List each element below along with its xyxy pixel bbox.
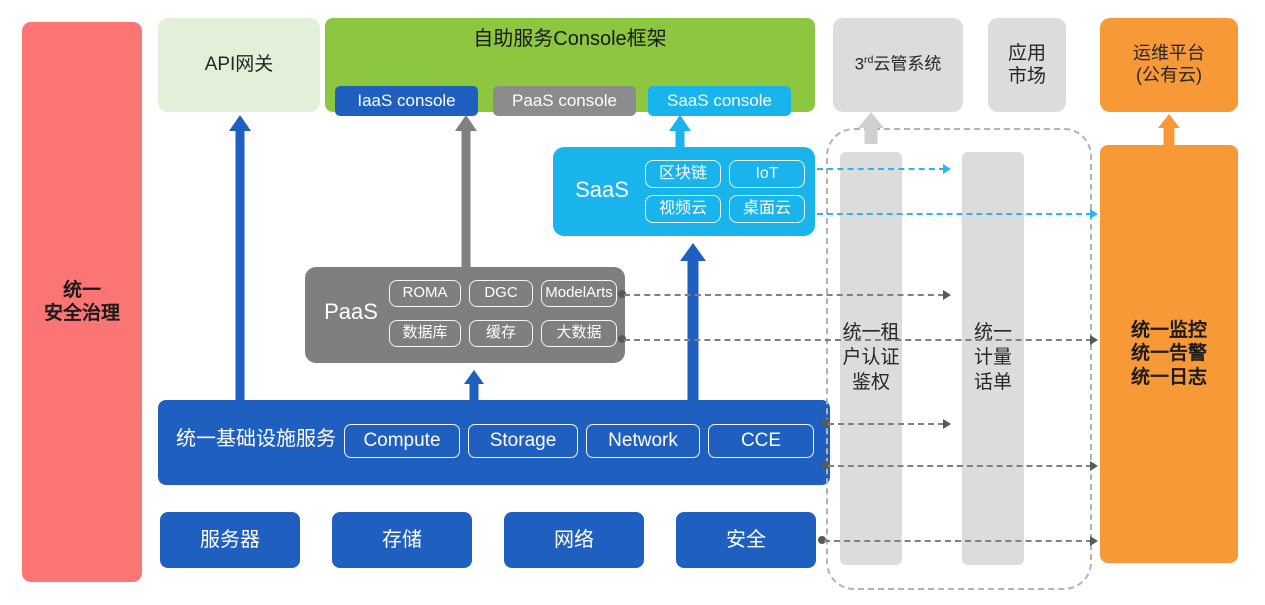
arrow-iaas-to-saas bbox=[679, 243, 707, 403]
saas-service-iot[interactable]: IoT bbox=[729, 160, 805, 188]
paas-console-button[interactable]: PaaS console bbox=[493, 86, 636, 116]
dashed-arrowhead-paas-tenant-auth bbox=[943, 290, 951, 300]
console-framework-block[interactable]: 自助服务Console框架 IaaS console PaaS console … bbox=[325, 18, 815, 112]
dashed-arrowhead-paas-ops bbox=[1090, 335, 1098, 345]
app-market-block[interactable]: 应用 市场 bbox=[988, 18, 1066, 112]
dashed-arrowhead-saas-tenant-auth bbox=[943, 164, 951, 174]
dashed-saas-to-tenant-auth bbox=[817, 168, 945, 170]
saas-block[interactable]: SaaS 区块链 IoT 视频云 桌面云 bbox=[553, 147, 815, 236]
iaas-service-network[interactable]: Network bbox=[586, 424, 700, 458]
dashed-arrowhead-iaas-tenant-auth bbox=[943, 419, 951, 429]
arrow-saas-to-console bbox=[668, 115, 692, 152]
dashed-arrowhead-saas-ops bbox=[1090, 209, 1098, 219]
security-governance-block[interactable]: 统一 安全治理 bbox=[22, 22, 142, 582]
hardware-item-network[interactable]: 网络 bbox=[504, 512, 644, 568]
arrow-paas-to-console bbox=[454, 115, 478, 270]
paas-service-cache[interactable]: 缓存 bbox=[469, 320, 533, 347]
api-gateway-block[interactable]: API网关 bbox=[158, 18, 320, 112]
arrow-ops-monitoring-to-ops-platform bbox=[1157, 114, 1181, 146]
saas-label: SaaS bbox=[563, 177, 641, 204]
iaas-label: 统一基础设施服务 bbox=[176, 427, 336, 451]
iaas-service-cce[interactable]: CCE bbox=[708, 424, 814, 458]
dashed-saas-to-ops-platform bbox=[817, 213, 1092, 215]
console-framework-title: 自助服务Console框架 bbox=[325, 27, 815, 51]
paas-block[interactable]: PaaS ROMA DGC ModelArts 数据库 缓存 大数据 bbox=[305, 267, 625, 363]
ops-platform-block[interactable]: 运维平台 (公有云) bbox=[1100, 18, 1238, 112]
dashed-paas-to-ops-platform bbox=[624, 339, 1092, 341]
hardware-item-security[interactable]: 安全 bbox=[676, 512, 816, 568]
paas-service-database[interactable]: 数据库 bbox=[389, 320, 461, 347]
arrow-iaas-to-paas bbox=[462, 370, 486, 403]
arrow-iaas-to-api-gateway bbox=[228, 115, 252, 403]
dashed-hardware-to-ops-platform bbox=[824, 540, 1092, 542]
saas-service-blockchain[interactable]: 区块链 bbox=[645, 160, 721, 188]
third-party-label: 3rd云管系统 bbox=[855, 54, 942, 75]
hardware-item-server[interactable]: 服务器 bbox=[160, 512, 300, 568]
paas-service-bigdata[interactable]: 大数据 bbox=[541, 320, 617, 347]
ops-monitoring-block[interactable]: 统一监控 统一告警 统一日志 bbox=[1100, 145, 1238, 563]
dashed-iaas-to-ops-platform bbox=[828, 465, 1092, 467]
paas-label: PaaS bbox=[313, 299, 389, 326]
saas-service-desktop-cloud[interactable]: 桌面云 bbox=[729, 195, 805, 223]
iaas-infrastructure-block[interactable]: 统一基础设施服务 Compute Storage Network CCE bbox=[158, 400, 830, 485]
iaas-service-storage[interactable]: Storage bbox=[468, 424, 578, 458]
architecture-diagram: 统一 安全治理 API网关 自助服务Console框架 IaaS console… bbox=[0, 0, 1265, 605]
paas-service-modelarts[interactable]: ModelArts bbox=[541, 280, 617, 307]
iaas-service-compute[interactable]: Compute bbox=[344, 424, 460, 458]
saas-service-video-cloud[interactable]: 视频云 bbox=[645, 195, 721, 223]
third-party-cloud-management-block[interactable]: 3rd云管系统 bbox=[833, 18, 963, 112]
dashed-iaas-to-tenant-auth bbox=[828, 423, 944, 425]
arrow-shared-services-to-third-party bbox=[857, 112, 885, 144]
saas-console-button[interactable]: SaaS console bbox=[648, 86, 791, 116]
paas-service-dgc[interactable]: DGC bbox=[469, 280, 533, 307]
dashed-paas-to-tenant-auth bbox=[624, 294, 944, 296]
iaas-console-button[interactable]: IaaS console bbox=[335, 86, 478, 116]
dashed-arrowhead-iaas-ops bbox=[1090, 461, 1098, 471]
paas-service-roma[interactable]: ROMA bbox=[389, 280, 461, 307]
hardware-item-storage[interactable]: 存储 bbox=[332, 512, 472, 568]
dashed-arrowhead-hardware-ops bbox=[1090, 536, 1098, 546]
